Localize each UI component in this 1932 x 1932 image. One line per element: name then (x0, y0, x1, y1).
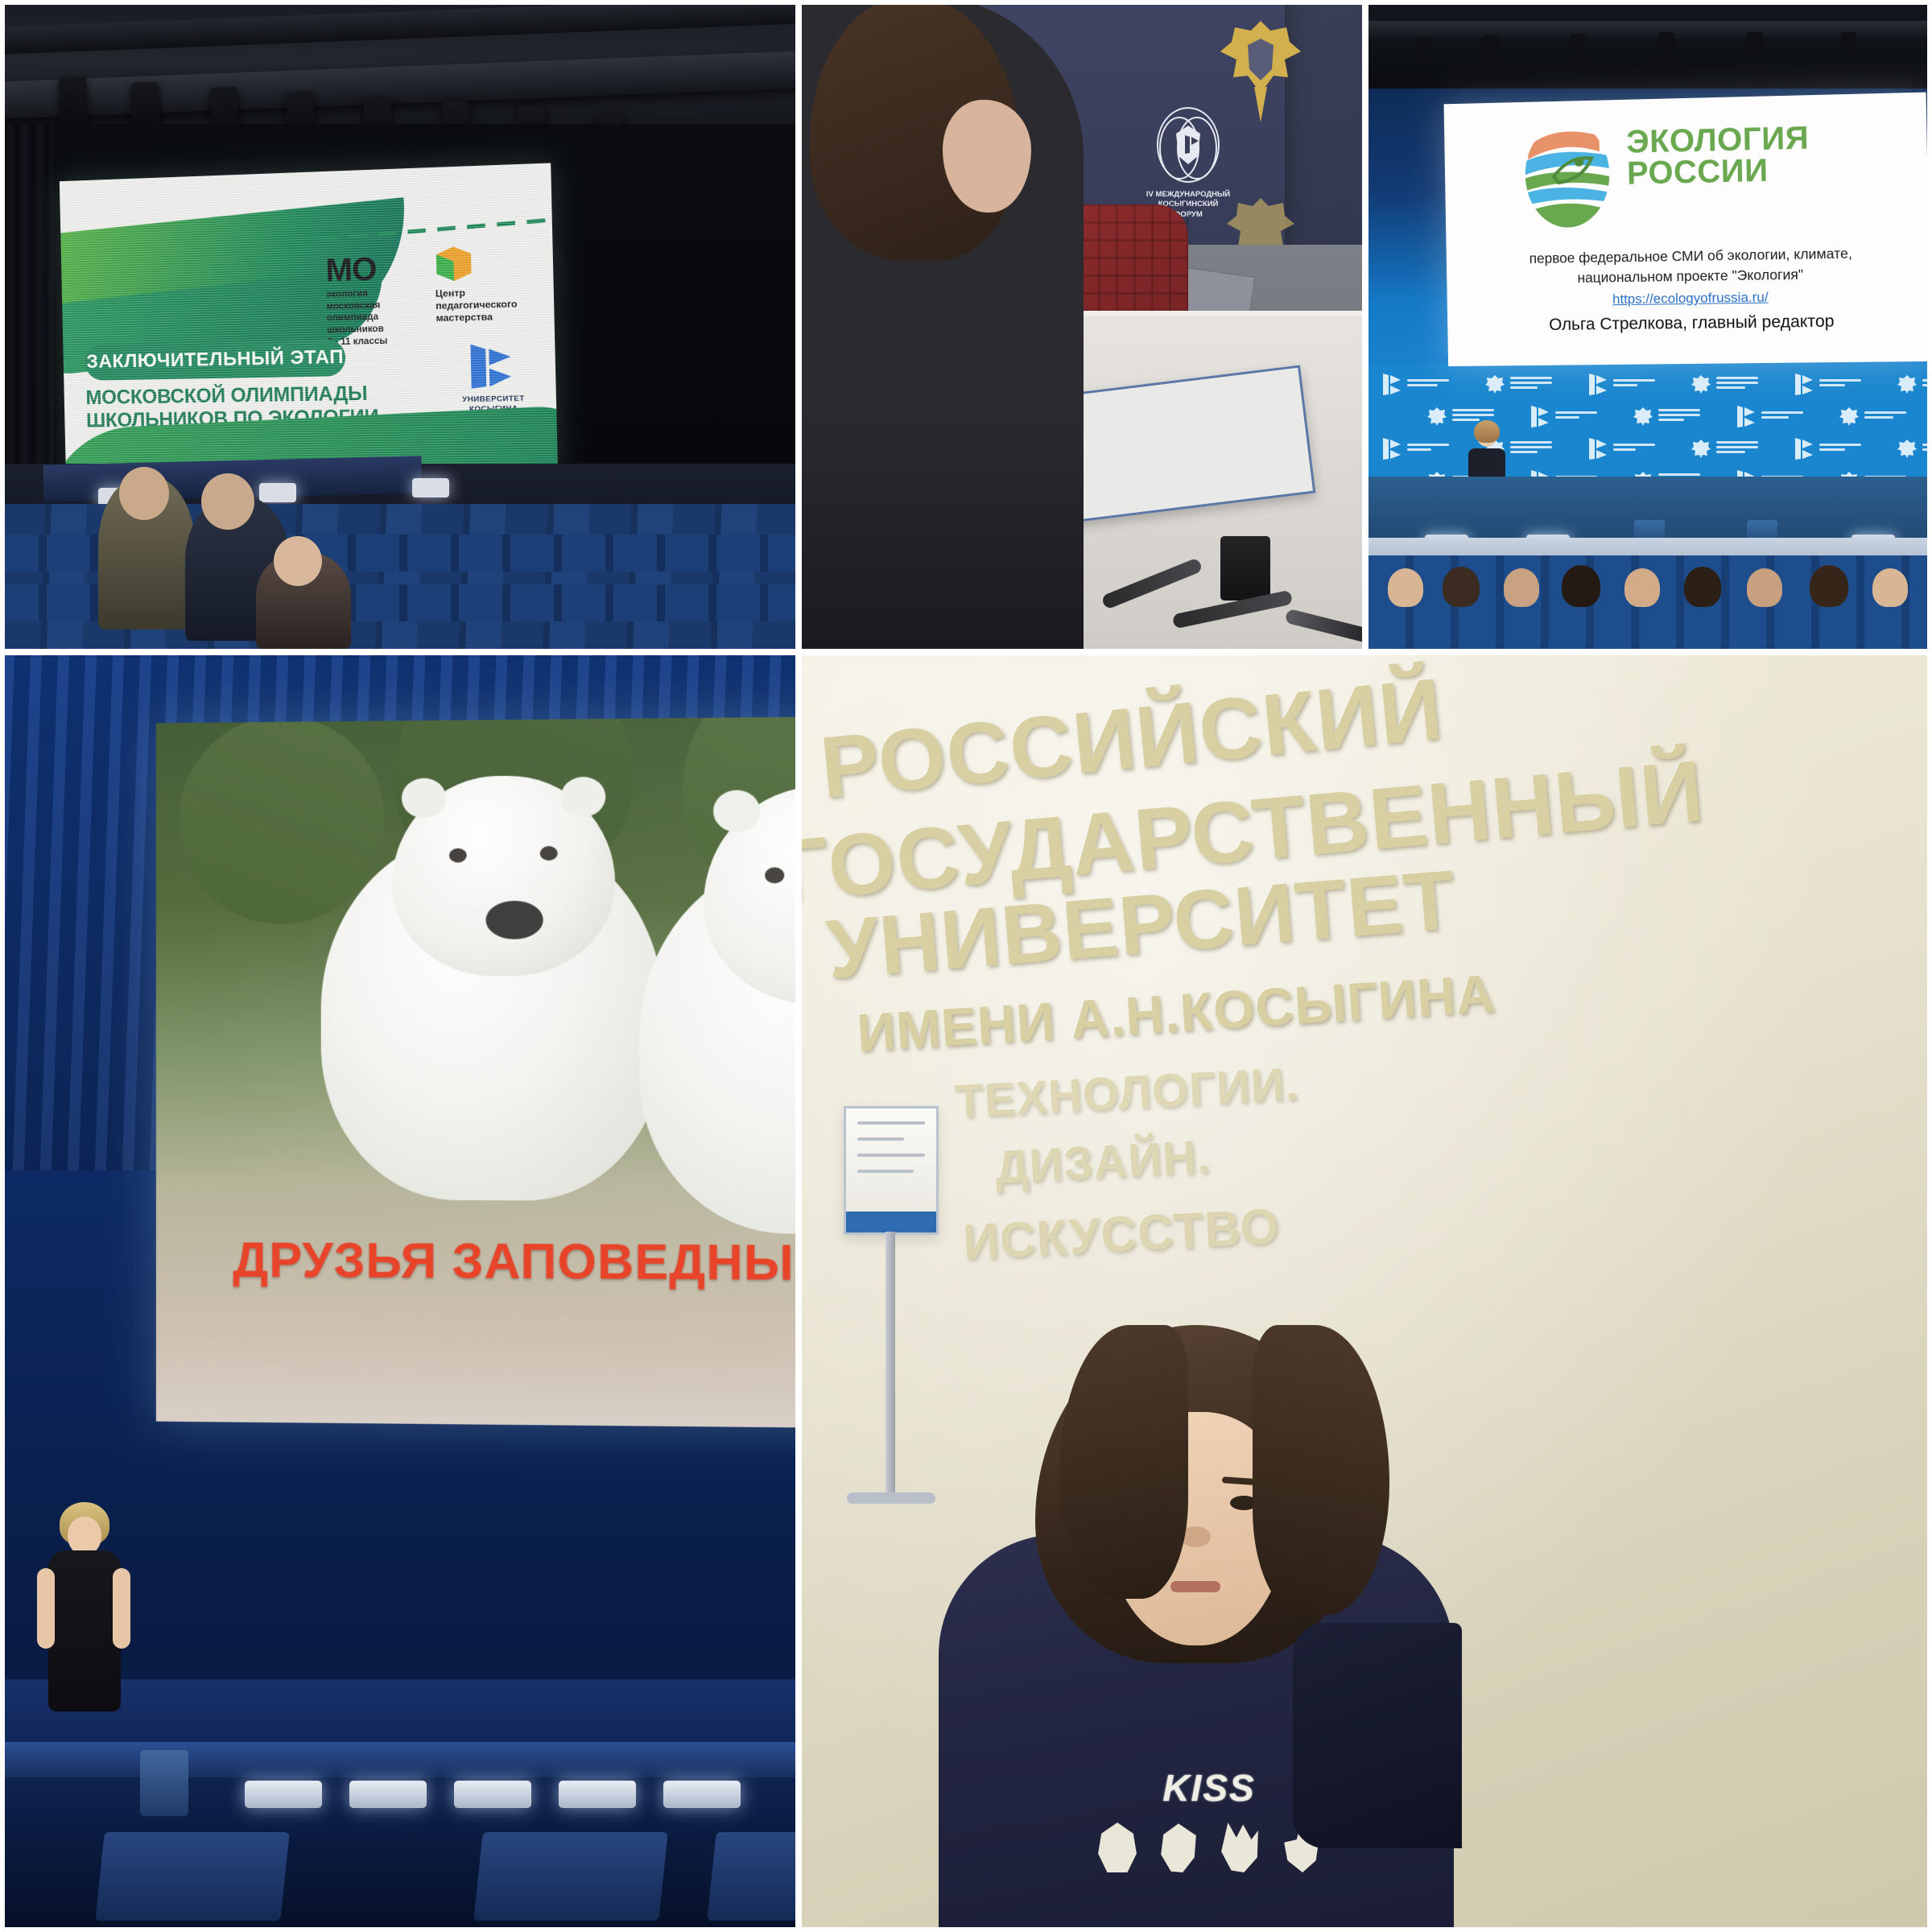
ecology-of-russia-logo-icon (1523, 119, 1612, 229)
hair (1474, 420, 1500, 443)
photo-collage: МО экология московская олимпиада школьни… (0, 0, 1932, 1932)
footlight-icon (559, 1781, 636, 1808)
attendee-head (1443, 567, 1480, 607)
stage-edge (3, 1742, 795, 1777)
attendee-head (1810, 565, 1848, 607)
projector-glare (156, 713, 799, 1432)
kiss-logo-text: KISS (1096, 1766, 1322, 1810)
russian-eagle-icon (1484, 372, 1552, 396)
logo-caption-lines (1510, 441, 1552, 456)
slide-speaker-credit: Ольга Стрелкова, главный редактор (1484, 312, 1902, 336)
russian-eagle-icon (1212, 10, 1309, 130)
attendee-head (1747, 568, 1782, 607)
kosygin-k-icon (1587, 436, 1655, 460)
kosygin-k-icon (467, 340, 518, 391)
arm (37, 1568, 55, 1649)
footlight-icon (454, 1781, 531, 1808)
moe-logo-line-3: школьников (327, 324, 387, 336)
russian-eagle-icon (1897, 372, 1932, 396)
makeup-brush (1100, 557, 1203, 609)
collage-divider-vertical (1362, 0, 1368, 652)
panel-polar-bears-slide: ДРУЗЬЯ ЗАПОВЕДНЫХ ОСТРОВОВ (0, 652, 799, 1932)
cube-icon (435, 245, 473, 283)
wall-text-line-6: ДИЗАЙН. (993, 1129, 1212, 1195)
logo-caption-lines (1864, 411, 1906, 421)
ecology-of-russia-wordmark: ЭКОЛОГИЯ РОССИИ (1626, 122, 1810, 189)
attendee-head (1388, 568, 1423, 607)
information-sign (844, 1106, 939, 1235)
logo-caption-lines (1716, 377, 1758, 391)
slide-body-line-2: национальном проекте "Экология" (1577, 266, 1803, 286)
sign-stand-pole (885, 1232, 895, 1497)
logo-caption-lines (1555, 411, 1597, 421)
collage-divider-vertical (795, 652, 802, 1932)
presentation-screen: МО экология московская олимпиада школьни… (60, 163, 558, 476)
logo-caption-lines (1613, 444, 1655, 453)
black-container (1220, 536, 1270, 601)
collage-divider-vertical (795, 0, 802, 652)
collage-divider-horizontal (0, 649, 1932, 655)
footlight-icon (349, 1781, 427, 1808)
brand-line-1: ЭКОЛОГИЯ (1626, 122, 1810, 158)
presentation-screen: ЭКОЛОГИЯ РОССИИ первое федеральное СМИ о… (1444, 93, 1931, 366)
backpack (1293, 1623, 1462, 1848)
kosygin-k-icon (1381, 436, 1449, 460)
logo-caption-lines (1922, 444, 1932, 453)
moe-logo: МО экология московская олимпиада школьни… (325, 254, 387, 349)
kosygin-logo: УНИВЕРСИТЕТ КОСЫГИНА (447, 340, 540, 415)
kiss-face-icon (1219, 1823, 1261, 1872)
slide-body-line-1: первое федеральное СМИ об экологии, клим… (1529, 246, 1852, 266)
logo-caption-lines (1510, 377, 1552, 391)
footlight-icon (412, 478, 449, 497)
logo-caption-lines (1716, 441, 1758, 456)
footlight-icon (663, 1781, 741, 1808)
stage-monitor-speaker (473, 1832, 668, 1921)
cpm-logo-label: Центр педагогического мастерства (436, 285, 549, 324)
attendee-head (1872, 568, 1908, 607)
forum-ring-icon (1155, 106, 1221, 184)
russian-eagle-icon (1839, 404, 1906, 428)
kosygin-k-icon (1587, 372, 1655, 396)
logo-caption-lines (1819, 444, 1861, 453)
attendee-head (201, 473, 254, 530)
kiss-face-icon (1096, 1823, 1138, 1872)
logo-wall-row (1368, 396, 1932, 428)
logo-wall-row (1368, 428, 1932, 460)
russian-eagle-icon (1690, 372, 1758, 396)
moe-logo-letters: МО (325, 254, 386, 286)
mouth (1170, 1581, 1220, 1592)
kosygin-k-icon (1794, 372, 1861, 396)
attendee-head (1504, 568, 1539, 607)
russian-eagle-icon (1690, 436, 1758, 460)
panel-student-at-university-wall: РОССИЙСКИЙ ГОСУДАРСТВЕННЫЙ УНИВЕРСИТЕТ И… (799, 652, 1932, 1932)
stage-lamp-icon (1658, 32, 1674, 60)
attendee-head (1624, 568, 1660, 607)
attendee-head (119, 467, 169, 520)
attendee-head (1562, 565, 1600, 607)
kiss-faces-row (1096, 1823, 1322, 1872)
stage-lamp-icon (1747, 32, 1763, 60)
presenter-on-stage (35, 1502, 132, 1744)
panel-ecology-of-russia: ЭКОЛОГИЯ РОССИИ первое федеральное СМИ о… (1365, 0, 1932, 652)
slide-url-link[interactable]: https://ecologyofrussia.ru/ (1483, 286, 1901, 312)
sign-stand-base (847, 1492, 935, 1504)
russian-eagle-icon (1897, 436, 1932, 460)
kosygin-k-icon (1736, 404, 1803, 428)
stage-lamp-icon (1570, 34, 1586, 61)
stage-badge: ЗАКЛЮЧИТЕЛЬНЫЙ ЭТАП (85, 339, 346, 381)
hoodie-graphic: KISS (1096, 1766, 1322, 1872)
logo-caption-lines (1407, 379, 1449, 389)
face (68, 1517, 101, 1555)
logo-caption-lines (1922, 379, 1932, 389)
footlight-icon (259, 483, 296, 502)
logo-caption-lines (1658, 409, 1700, 423)
logo-caption-lines (1761, 411, 1803, 421)
hair-fringe-left (1059, 1325, 1188, 1599)
moe-logo-line-2: олимпиада (327, 312, 387, 325)
brand-line-2: РОССИИ (1627, 155, 1810, 190)
slide-body: первое федеральное СМИ об экологии, клим… (1482, 243, 1901, 312)
stage-monitor-speaker (95, 1832, 290, 1921)
hair-fringe-right (1253, 1325, 1389, 1615)
stage-lamp-icon (1840, 32, 1856, 60)
participant-dark-top (799, 0, 1084, 652)
sign-footer-bar (846, 1212, 936, 1232)
presentation-screen: ДРУЗЬЯ ЗАПОВЕДНЫХ ОСТРОВОВ (156, 713, 799, 1432)
russian-eagle-icon (1633, 404, 1700, 428)
logo-caption-lines (1613, 379, 1655, 389)
moving-head-light-icon (140, 1750, 188, 1816)
logo-wall-row (1368, 364, 1932, 396)
cpm-logo: Центр педагогического мастерства (435, 242, 549, 324)
stage-lamp-icon (1483, 35, 1499, 63)
attendee-head (1684, 567, 1721, 607)
face (943, 100, 1031, 213)
panel-auditorium-opening-slide: МО экология московская олимпиада школьни… (0, 0, 799, 652)
footlight-icon (245, 1781, 322, 1808)
stage-monitor-speaker (707, 1832, 799, 1921)
kosygin-k-icon (1794, 436, 1861, 460)
kosygin-k-icon (1529, 404, 1597, 428)
student-portrait: KISS (939, 1325, 1454, 1932)
logo-caption-lines (1819, 379, 1861, 389)
stage-lamp-icon (59, 76, 88, 126)
attendee-head (274, 536, 322, 586)
dress (48, 1550, 121, 1711)
kiss-face-icon (1158, 1823, 1199, 1872)
stage-lamp-icon (1415, 37, 1431, 64)
logo-caption-lines (1407, 444, 1449, 453)
slide-title: ДРУЗЬЯ ЗАПОВЕДНЫХ ОСТРОВОВ (156, 1231, 799, 1294)
kosygin-k-icon (1381, 372, 1449, 396)
arm (113, 1568, 130, 1649)
